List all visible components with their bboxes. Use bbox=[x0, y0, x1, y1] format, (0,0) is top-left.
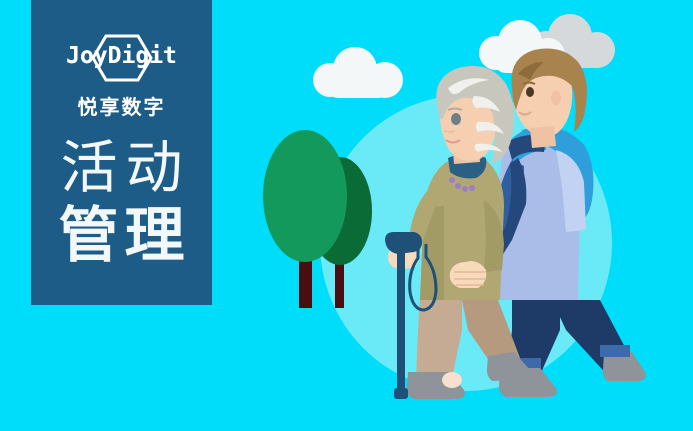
man-ear bbox=[551, 91, 561, 105]
logo-block: JoyDigit 悦享数字 bbox=[31, 32, 212, 120]
cane-tip bbox=[394, 388, 408, 399]
logo-wordmark: JoyDigit bbox=[31, 41, 212, 71]
man-neck bbox=[530, 126, 556, 148]
cane-shaft bbox=[397, 252, 405, 392]
page-title-line-1: 活动 bbox=[31, 135, 212, 201]
logo-chinese-name: 悦享数字 bbox=[31, 91, 212, 120]
man-eye bbox=[526, 87, 534, 97]
woman-ankle bbox=[442, 372, 462, 388]
woman-eye bbox=[451, 113, 461, 125]
brand-panel: JoyDigit 悦享数字 活动 管理 bbox=[31, 0, 212, 305]
cane-handle bbox=[385, 232, 422, 254]
man-far-cuff bbox=[600, 345, 630, 357]
page-title-line-2: 管理 bbox=[31, 201, 212, 271]
woman-clasped-hand bbox=[450, 261, 487, 288]
logo-mark: JoyDigit bbox=[31, 32, 212, 84]
page-title: 活动 管理 bbox=[31, 135, 212, 271]
poster-canvas: JoyDigit 悦享数字 活动 管理 bbox=[0, 0, 693, 431]
